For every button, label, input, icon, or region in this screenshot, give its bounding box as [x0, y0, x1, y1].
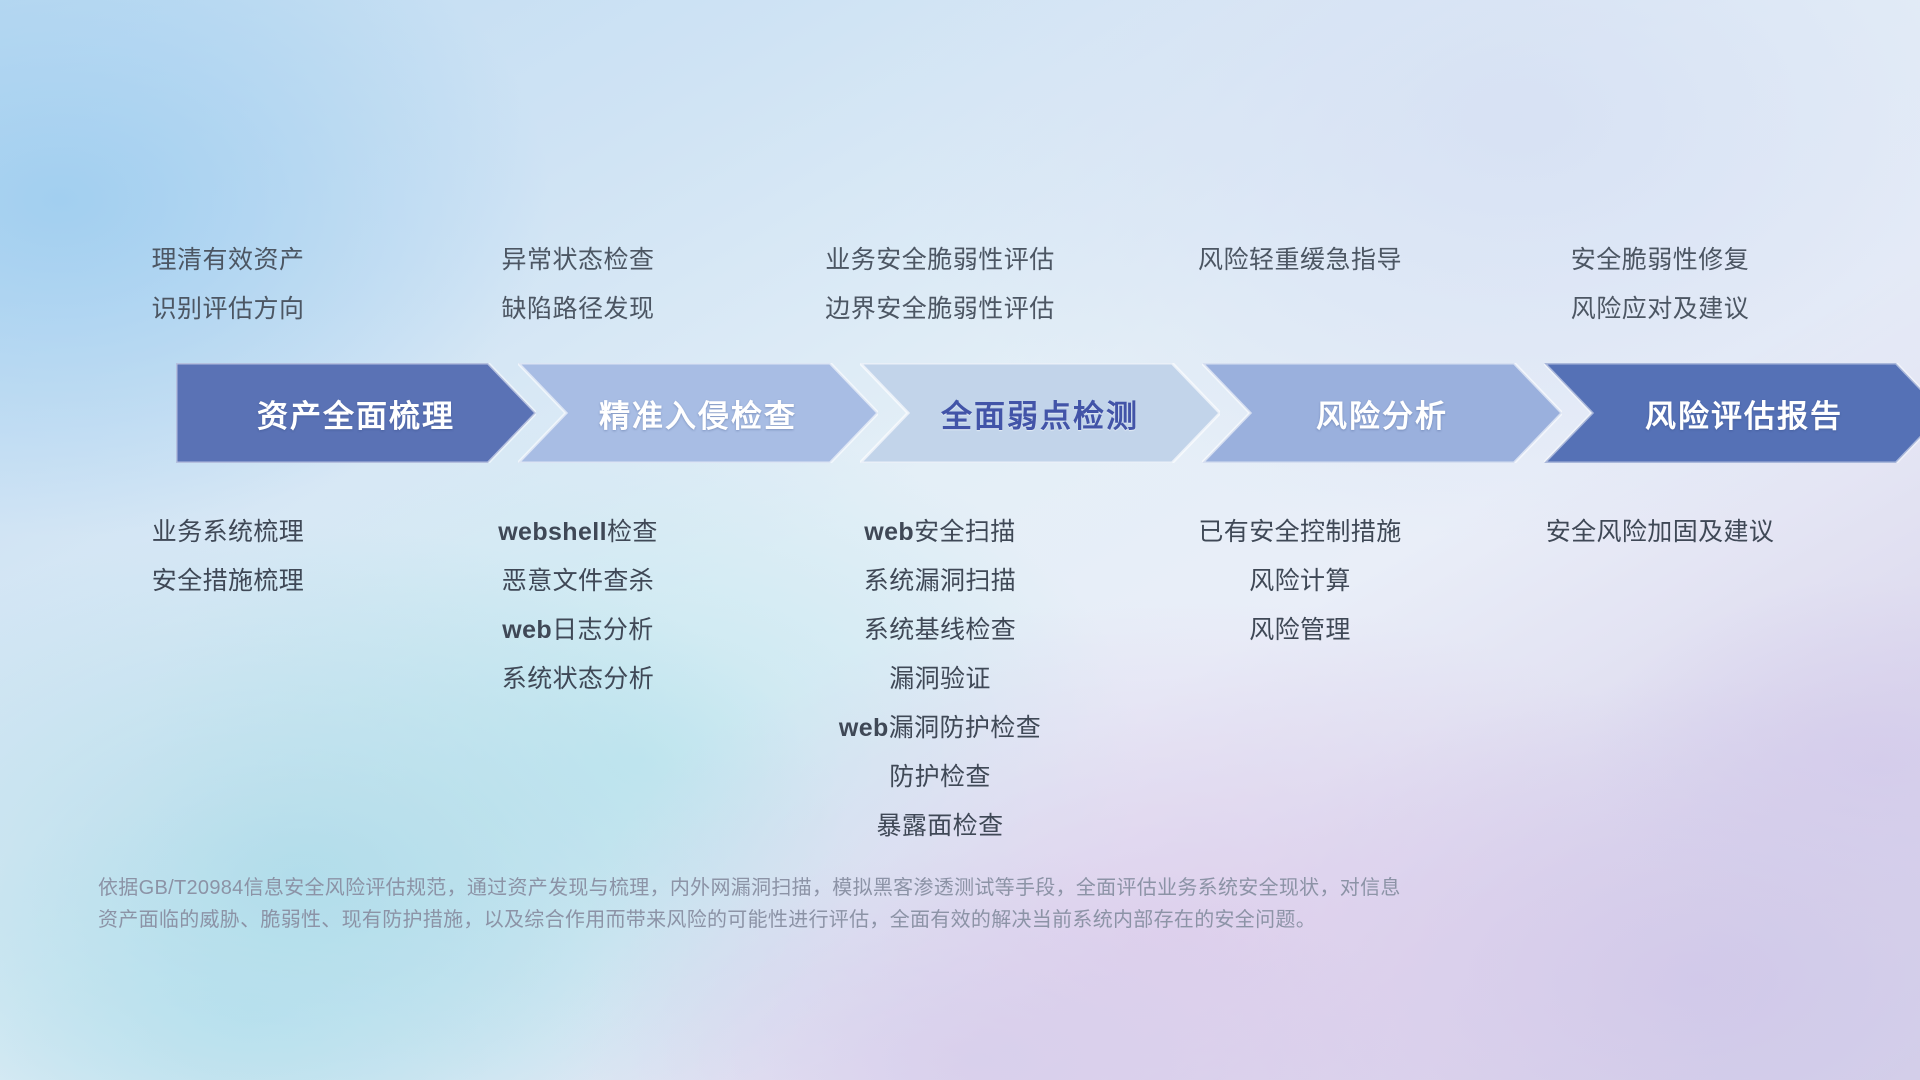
- chevron-title: 全面弱点检测: [860, 391, 1220, 436]
- stage-item-cn: 风险管理: [1249, 616, 1351, 644]
- stage-item: web漏洞防护检查: [680, 704, 1200, 753]
- stage-item-cn: 系统漏洞扫描: [864, 567, 1016, 595]
- chevron-title: 风险分析: [1202, 391, 1562, 436]
- stage-item: 防护检查: [680, 753, 1200, 802]
- stage-item-cn: 安全风险加固及建议: [1546, 518, 1775, 546]
- footer-line-1: 依据GB/T20984信息安全风险评估规范，通过资产发现与梳理，内外网漏洞扫描，…: [98, 872, 1618, 904]
- infographic-canvas: 理清有效资产 识别评估方向 异常状态检查 缺陷路径发现 业务安全脆弱性评估 边界…: [0, 0, 1920, 1080]
- stage-item-cn: 漏洞防护检查: [889, 714, 1041, 742]
- top-label: 安全脆弱性修复: [1400, 236, 1920, 285]
- top-labels-risk-report: 安全脆弱性修复 风险应对及建议: [1400, 236, 1920, 334]
- process-chevron-banner: 资产全面梳理 精准入侵检查 全面弱点检测 风险分析: [88, 363, 1856, 463]
- chevron-title: 精准入侵检查: [518, 391, 878, 436]
- chevron-title: 风险评估报告: [1544, 391, 1920, 436]
- stage-item-en: webshell: [498, 518, 607, 546]
- stage-item-cn: 日志分析: [552, 616, 654, 644]
- stage-item-en: web: [864, 518, 914, 546]
- stage-item-cn: 暴露面检查: [876, 812, 1003, 840]
- stage-item-cn: 安全措施梳理: [152, 567, 304, 595]
- top-label: 风险应对及建议: [1400, 285, 1920, 334]
- stage-item: 风险管理: [1040, 606, 1560, 655]
- chevron-stage-risk-report[interactable]: 风险评估报告: [1544, 363, 1920, 463]
- chevron-stage-weakness-detection[interactable]: 全面弱点检测: [860, 363, 1220, 463]
- footer-description: 依据GB/T20984信息安全风险评估规范，通过资产发现与梳理，内外网漏洞扫描，…: [98, 872, 1618, 936]
- stage-item-cn: 已有安全控制措施: [1198, 518, 1401, 546]
- chevron-stage-intrusion-check[interactable]: 精准入侵检查: [518, 363, 878, 463]
- stage-item: 风险计算: [1040, 557, 1560, 606]
- chevron-title: 资产全面梳理: [176, 391, 536, 436]
- stage-item-cn: 业务系统梳理: [152, 518, 304, 546]
- stage-item-cn: 防护检查: [889, 763, 991, 791]
- stage-item-cn: 系统基线检查: [864, 616, 1016, 644]
- stage-item: 漏洞验证: [680, 655, 1200, 704]
- stage-item: 暴露面检查: [680, 802, 1200, 851]
- top-labels-row: 理清有效资产 识别评估方向 异常状态检查 缺陷路径发现 业务安全脆弱性评估 边界…: [0, 236, 1920, 336]
- stage-item: 安全风险加固及建议: [1400, 508, 1920, 557]
- stage-item-cn: 安全扫描: [914, 518, 1016, 546]
- items-risk-report: 安全风险加固及建议: [1400, 508, 1920, 557]
- stage-item-cn: 系统状态分析: [502, 665, 654, 693]
- stage-item-cn: 恶意文件查杀: [502, 567, 654, 595]
- chevron-stage-risk-analysis[interactable]: 风险分析: [1202, 363, 1562, 463]
- stage-item-en: web: [502, 616, 552, 644]
- chevron-stage-asset-inventory[interactable]: 资产全面梳理: [176, 363, 536, 463]
- stage-item-cn: 检查: [607, 518, 658, 546]
- footer-line-2: 资产面临的威胁、脆弱性、现有防护措施，以及综合作用而带来风险的可能性进行评估，全…: [98, 904, 1618, 936]
- top-label: 边界安全脆弱性评估: [680, 285, 1200, 334]
- stage-item-cn: 风险计算: [1249, 567, 1351, 595]
- stage-item-en: web: [839, 714, 889, 742]
- stage-item-cn: 漏洞验证: [889, 665, 991, 693]
